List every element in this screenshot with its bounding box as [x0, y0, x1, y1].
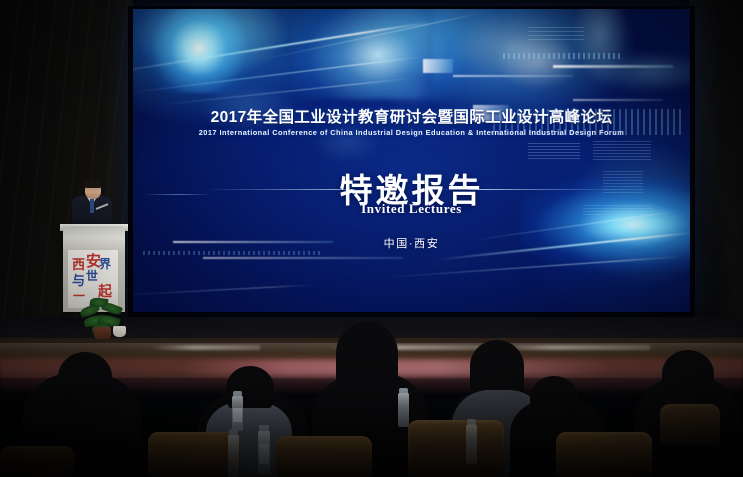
audience-head-back-3 — [336, 322, 398, 384]
water-bottle-cap-2 — [259, 425, 269, 431]
audience-chair-5 — [0, 446, 74, 477]
hud-caption-b — [593, 141, 651, 161]
hud-dots-row-2 — [143, 251, 323, 255]
audience-head-back-6 — [662, 350, 714, 398]
speaker-hair — [84, 180, 102, 188]
hud-block-a — [528, 27, 584, 43]
slide-title-chinese: 2017年全国工业设计教育研讨会暨国际工业设计高峰论坛 — [133, 105, 690, 127]
audience-chair-3 — [408, 420, 504, 477]
audience-chair-2 — [276, 436, 372, 477]
audience-chair-4 — [556, 432, 652, 477]
audience-chair-1 — [148, 432, 240, 477]
podium-banner-char-2: 与 — [72, 274, 85, 287]
podium-banner-char-3: 世 — [86, 270, 98, 282]
water-bottle-4 — [398, 392, 409, 427]
audience-head-back-5 — [530, 376, 578, 420]
hud-bar-g — [203, 257, 403, 259]
water-bottle-cap-1 — [233, 391, 242, 396]
water-cup — [113, 326, 126, 337]
slide-title-english: 2017 International Conference of China I… — [133, 128, 690, 137]
projection-screen: 2017年全国工业设计教育研讨会暨国际工业设计高峰论坛 2017 Interna… — [133, 9, 690, 312]
plant-pot — [94, 327, 111, 339]
water-bottle-3 — [228, 434, 239, 477]
hud-bar-e — [573, 99, 663, 101]
hud-bar-b — [423, 59, 453, 73]
right-wall-panel — [689, 0, 743, 340]
speaker-tie — [90, 199, 94, 213]
screenshot-root: 2017年全国工业设计教育研讨会暨国际工业设计高峰论坛 2017 Interna… — [0, 0, 743, 477]
water-bottle-label-2 — [259, 444, 269, 464]
hud-caption-a — [528, 143, 580, 159]
water-bottle-cap-5 — [467, 419, 476, 425]
podium-banner-char-0: 西 — [72, 258, 85, 271]
slide-location: 中国·西安 — [133, 235, 690, 251]
hud-bar-a — [553, 65, 673, 68]
audience-head-back-1 — [58, 352, 112, 402]
stage-edge-glint-left — [150, 345, 260, 350]
slide-headline-english: Invited Lectures — [133, 201, 690, 217]
audience-head-back-4 — [470, 340, 524, 392]
water-bottle-5 — [466, 424, 477, 464]
water-bottle-label-1 — [233, 408, 242, 422]
podium-banner-char-4: 界 — [99, 258, 111, 270]
audience-chair-6 — [660, 404, 720, 444]
hud-bar-c — [453, 75, 573, 77]
hud-dots-row — [503, 53, 623, 59]
water-bottle-cap-3 — [229, 429, 238, 435]
water-bottle-cap-4 — [399, 388, 408, 393]
